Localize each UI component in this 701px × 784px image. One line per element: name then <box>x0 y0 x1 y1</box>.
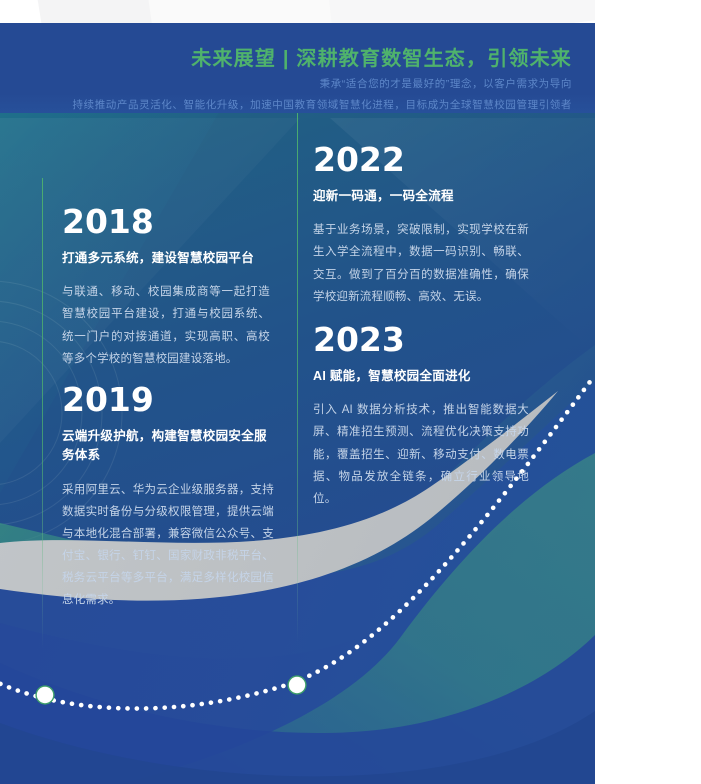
trend-node-marker <box>287 675 306 694</box>
top-white-band <box>0 0 595 23</box>
diagonal-streak <box>327 0 595 23</box>
main-panel: 未来展望 | 深耕教育数智生态，引领未来 秉承“适合您的才是最好的”理念，以客户… <box>0 23 595 784</box>
milestone-year: 2023 <box>313 323 529 356</box>
milestone-2023: 2023 AI 赋能，智慧校园全面进化 引入 AI 数据分析技术，推出智能数据大… <box>313 323 529 510</box>
subtitle-line-2: 持续推动产品灵活化、智能化升级，加速中国教育领域智慧化进程，目标成为全球智慧校园… <box>0 97 572 112</box>
poster-canvas: 未来展望 | 深耕教育数智生态，引领未来 秉承“适合您的才是最好的”理念，以客户… <box>0 0 701 784</box>
milestone-heading: 打通多元系统，建设智慧校园平台 <box>62 249 270 268</box>
milestone-year: 2018 <box>62 205 270 238</box>
milestone-heading: 云端升级护航，构建智慧校园安全服务体系 <box>62 427 274 466</box>
milestone-2018: 2018 打通多元系统，建设智慧校园平台 与联通、移动、校园集成商等一起打造智慧… <box>62 205 270 370</box>
milestone-body: 引入 AI 数据分析技术，推出智能数据大屏、精准招生预测、流程优化决策支持功能，… <box>313 399 529 509</box>
subtitle-line-1: 秉承“适合您的才是最好的”理念，以客户需求为导向 <box>0 76 572 91</box>
trend-node-marker <box>35 685 54 704</box>
page-title: 未来展望 | 深耕教育数智生态，引领未来 <box>0 42 572 71</box>
milestone-body: 基于业务场景，突破限制，实现学校在新生入学全流程中，数据一码识别、畅联、交互。做… <box>313 219 529 307</box>
milestone-body: 采用阿里云、华为云企业级服务器，支持数据实时备份与分级权限管理，提供云端与本地化… <box>62 479 274 611</box>
timeline-divider-left <box>42 178 43 648</box>
milestone-2019: 2019 云端升级护航，构建智慧校园安全服务体系 采用阿里云、华为云企业级服务器… <box>62 383 274 611</box>
header: 未来展望 | 深耕教育数智生态，引领未来 秉承“适合您的才是最好的”理念，以客户… <box>0 23 595 113</box>
milestone-heading: 迎新一码通，一码全流程 <box>313 187 529 206</box>
milestone-2022: 2022 迎新一码通，一码全流程 基于业务场景，突破限制，实现学校在新生入学全流… <box>313 143 529 308</box>
timeline-divider-right <box>297 113 298 643</box>
milestone-year: 2022 <box>313 143 529 176</box>
milestone-year: 2019 <box>62 383 274 416</box>
milestone-heading: AI 赋能，智慧校园全面进化 <box>313 367 529 386</box>
milestone-body: 与联通、移动、校园集成商等一起打造智慧校园平台建设，打通与校园系统、统一门户的对… <box>62 281 270 369</box>
